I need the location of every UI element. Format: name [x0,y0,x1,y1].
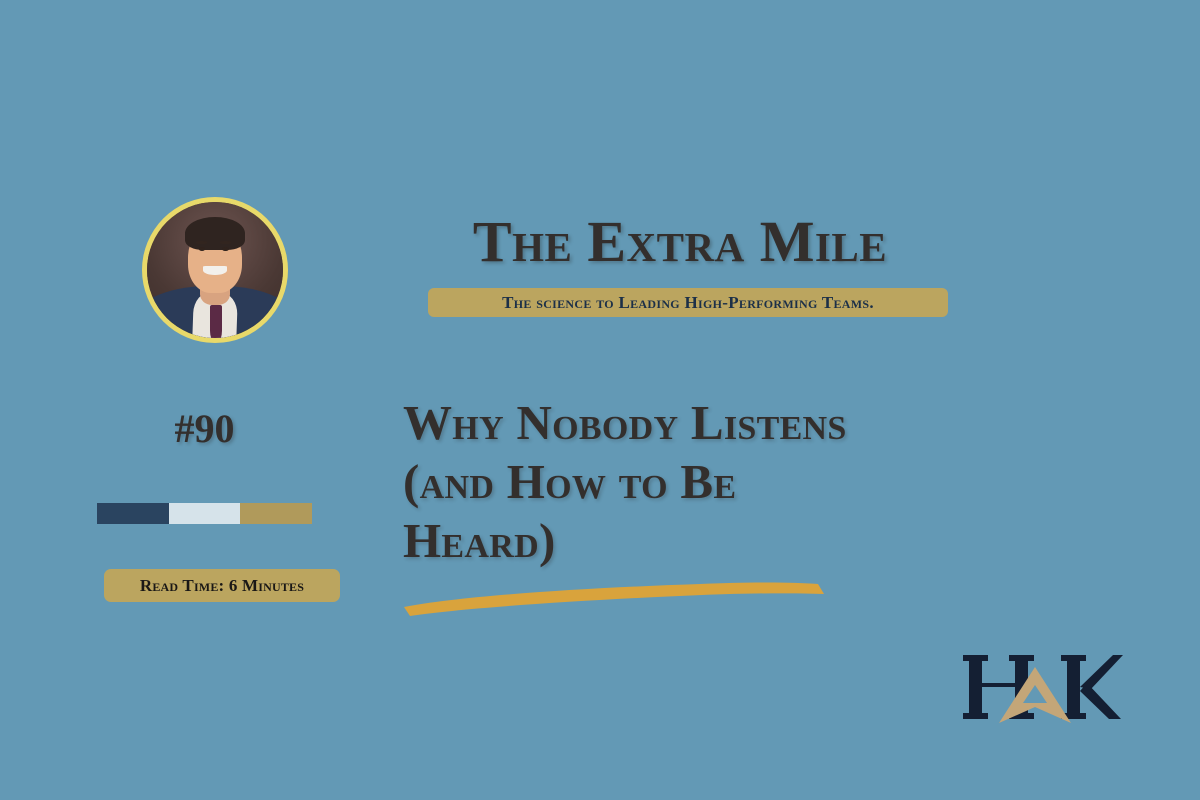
brand-subtitle-banner: The science to Leading High-Performing T… [428,288,948,317]
color-bar-segment-gold [240,503,312,524]
article-headline: Why Nobody Listens (and How to Be Heard) [403,394,1003,570]
headline-line-3: Heard) [403,512,1003,571]
avatar-eye-right [222,247,229,251]
color-bar [97,503,312,524]
read-time-badge: Read Time: 6 Minutes [104,569,340,602]
color-bar-segment-navy [97,503,169,524]
headline-line-2: (and How to Be [403,453,1003,512]
avatar-image [147,202,283,338]
brand-title: The Extra Mile [380,212,980,273]
avatar-hair [185,217,245,250]
brand-subtitle-text: The science to Leading High-Performing T… [502,293,874,313]
newsletter-cover: The Extra Mile The science to Leading Hi… [0,0,1200,800]
color-bar-segment-light [169,503,241,524]
avatar-brow-left [196,241,207,243]
hak-logo [963,637,1123,733]
headline-line-1: Why Nobody Listens [403,394,1003,453]
headline-underline-swoosh [400,570,830,616]
issue-number: #90 [97,405,312,452]
avatar [142,197,288,343]
avatar-tie [210,305,222,338]
avatar-brow-right [220,241,231,243]
read-time-text: Read Time: 6 Minutes [140,576,304,596]
